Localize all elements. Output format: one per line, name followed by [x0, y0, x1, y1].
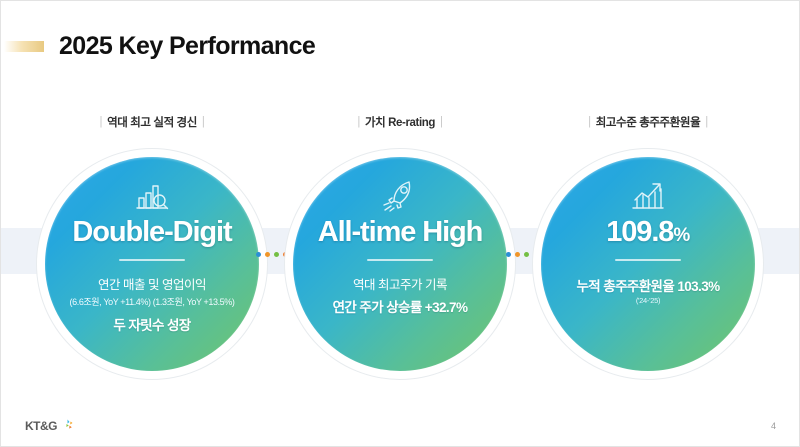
circle-body-2: All-time High 역대 최고주가 기록 연간 주가 상승률 +32.7…	[293, 157, 507, 371]
headline-text-2: All-time High	[318, 216, 483, 248]
card-label-1: |역대 최고 실적 경신|	[37, 114, 267, 130]
circle-sub3-3: 누적 총주주환원율 103.3%	[576, 275, 719, 295]
circle-body-3: 109.8% 누적 총주주환원율 103.3% ('24-'25)	[541, 157, 755, 371]
metric-circle-1[interactable]: Double-Digit 연간 매출 및 영업이익 (6.6조원, YoY +1…	[37, 149, 267, 379]
headline-suffix-3: %	[673, 225, 689, 246]
circle-body-1: Double-Digit 연간 매출 및 영업이익 (6.6조원, YoY +1…	[45, 157, 259, 371]
circle-subtiny-3: ('24-'25)	[636, 296, 660, 305]
logo-text: KT&G	[25, 419, 57, 433]
title-row: 2025 Key Performance	[0, 28, 315, 64]
metric-circle-2[interactable]: All-time High 역대 최고주가 기록 연간 주가 상승률 +32.7…	[285, 149, 515, 379]
page-number: 4	[771, 421, 776, 431]
label-divider-right-3: |	[700, 116, 713, 128]
title-accent-bar	[4, 41, 44, 52]
circle-headline-1: Double-Digit	[72, 217, 231, 249]
slide-canvas: 2025 Key Performance |역대 최고 실적 경신| Doubl…	[0, 0, 800, 447]
label-divider-right-2: |	[435, 116, 448, 128]
label-divider-left-2: |	[352, 116, 365, 128]
card-label-text-3: 최고수준 총주주환원율	[596, 117, 701, 129]
connector-dot	[515, 252, 520, 257]
card-label-2: |가치 Re-rating|	[285, 114, 515, 130]
card-label-text-2: 가치 Re-rating	[365, 117, 435, 129]
circle-divider-2	[367, 259, 433, 261]
rocket-icon	[380, 179, 420, 213]
circle-headline-3: 109.8%	[606, 217, 689, 249]
label-divider-left-3: |	[583, 116, 596, 128]
circle-sub3-2: 연간 주가 상승률 +32.7%	[333, 296, 468, 316]
bar-chart-magnifier-icon	[132, 179, 172, 213]
circle-divider-1	[119, 259, 185, 261]
connector-dot	[524, 252, 529, 257]
label-divider-left-1: |	[94, 116, 107, 128]
circle-sub1-1: 연간 매출 및 영업이익	[98, 274, 206, 293]
headline-text-3: 109.8	[606, 216, 673, 248]
circle-divider-3	[615, 259, 681, 261]
label-divider-right-1: |	[197, 116, 210, 128]
connector-dot	[256, 252, 261, 257]
connector-dot	[274, 252, 279, 257]
connector-dot	[265, 252, 270, 257]
growth-chart-icon	[628, 179, 668, 213]
circle-sub1-2: 역대 최고주가 기록	[353, 274, 447, 293]
metric-circle-3[interactable]: 109.8% 누적 총주주환원율 103.3% ('24-'25)	[533, 149, 763, 379]
circle-sub2-1: (6.6조원, YoY +11.4%) (1.3조원, YoY +13.5%)	[70, 295, 235, 308]
circle-headline-2: All-time High	[318, 217, 483, 249]
kt-g-logo: KT&G	[25, 417, 75, 433]
headline-text-1: Double-Digit	[72, 216, 231, 248]
circle-sub3-1: 두 자릿수 성장	[113, 314, 190, 334]
page-title: 2025 Key Performance	[59, 32, 315, 61]
logo-mark-icon	[59, 417, 75, 433]
card-label-text-1: 역대 최고 실적 경신	[107, 117, 197, 129]
connector-dots-1	[256, 252, 288, 257]
connector-dot	[506, 252, 511, 257]
card-label-3: |최고수준 총주주환원율|	[533, 114, 763, 130]
